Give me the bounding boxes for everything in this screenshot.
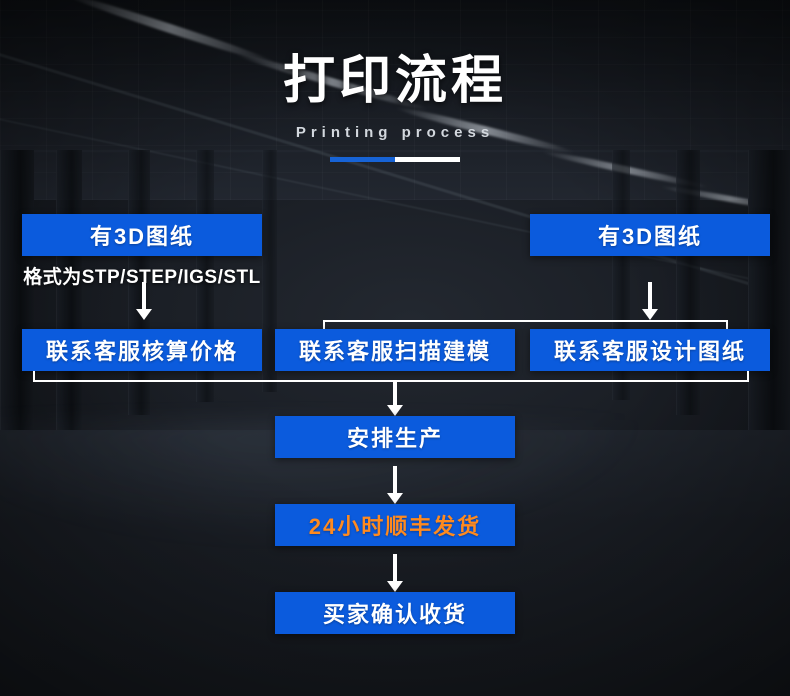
divider-segment-white: [395, 157, 460, 162]
flow-box-row1-right[interactable]: 有3D图纸: [530, 214, 770, 256]
flow-box-row2-right[interactable]: 联系客服设计图纸: [530, 329, 770, 371]
down-arrow-icon: [385, 466, 405, 504]
flow-box-row1-left[interactable]: 有3D图纸: [22, 214, 262, 256]
page-subtitle: Printing process: [0, 124, 790, 141]
flow-box-production[interactable]: 安排生产: [275, 416, 515, 458]
flow-box-row2-left[interactable]: 联系客服核算价格: [22, 329, 262, 371]
divider-segment-blue: [330, 157, 395, 162]
down-arrow-icon: [640, 282, 660, 320]
flow-box-buyer-confirm[interactable]: 买家确认收货: [275, 592, 515, 634]
header-divider: [330, 157, 460, 162]
page-title: 打印流程: [0, 52, 790, 110]
flow-box-shipping[interactable]: 24小时顺丰发货: [275, 504, 515, 546]
down-arrow-icon: [385, 382, 405, 416]
down-arrow-icon: [134, 282, 154, 320]
flowchart-poster: 打印流程 Printing process 有3D图纸 格式为STP/STEP/…: [0, 0, 790, 696]
header: 打印流程 Printing process: [0, 52, 790, 162]
down-arrow-icon: [385, 554, 405, 592]
connector-line-top-bracket: [323, 320, 728, 322]
flow-box-row2-middle[interactable]: 联系客服扫描建模: [275, 329, 515, 371]
